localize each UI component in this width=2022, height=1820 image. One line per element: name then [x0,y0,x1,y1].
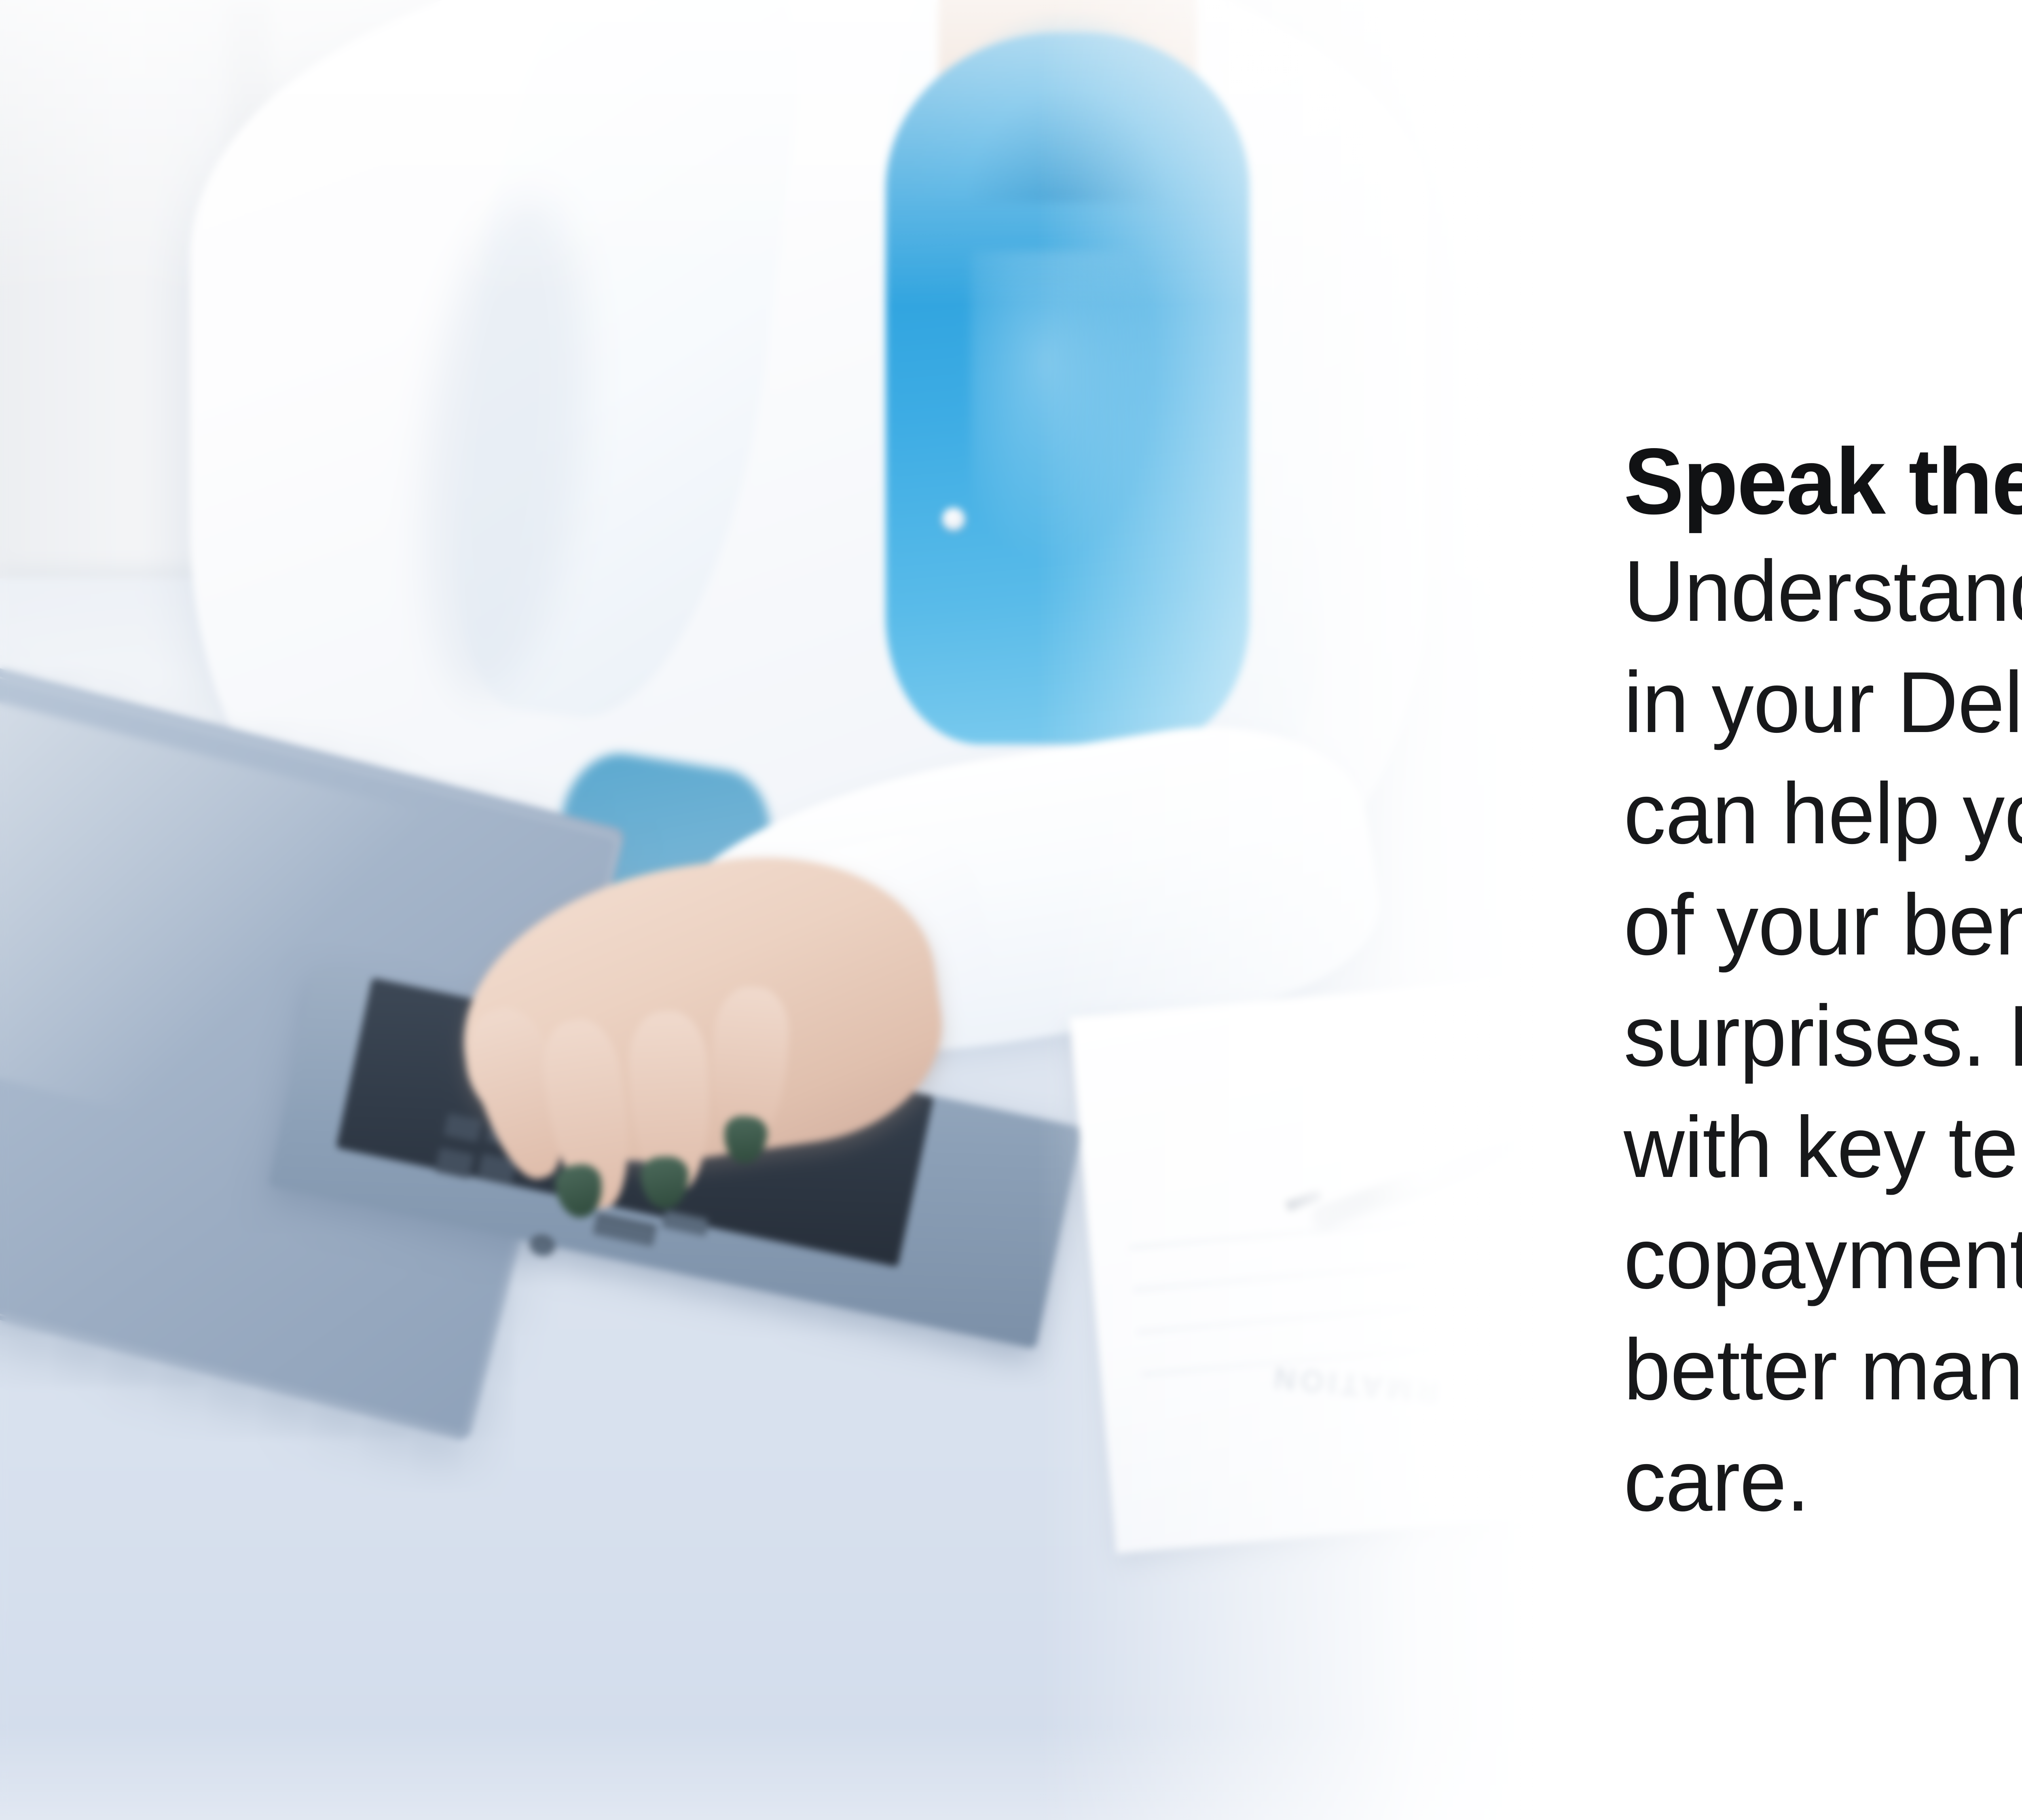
bodycopy-line: surprises. Familiarize yourself [1624,981,2022,1092]
page-bodycopy: Understanding common termsin your Delta … [1624,536,2022,1537]
bodycopy-line: in your Delta Dental plan [1624,647,2022,758]
bodycopy-line: can help you make the most [1624,758,2022,870]
bodycopy-line: copayments, and maximums to [1624,1203,2022,1314]
bodycopy-line: of your benefits and avoid [1624,870,2022,981]
page-headline: Speak the language [1624,435,2022,529]
bodycopy-line: Understanding common terms [1624,536,2022,647]
photo-right-fade [1035,0,1541,1820]
marketing-text-column: Speak the language Understanding common … [1624,435,2022,1537]
bodycopy-line: better manage your oral health [1624,1314,2022,1426]
bodycopy-line: care. [1624,1426,2022,1537]
hero-photo: RMATION [0,0,1541,1820]
bodycopy-line: with key terms like deductibles, [1624,1092,2022,1203]
